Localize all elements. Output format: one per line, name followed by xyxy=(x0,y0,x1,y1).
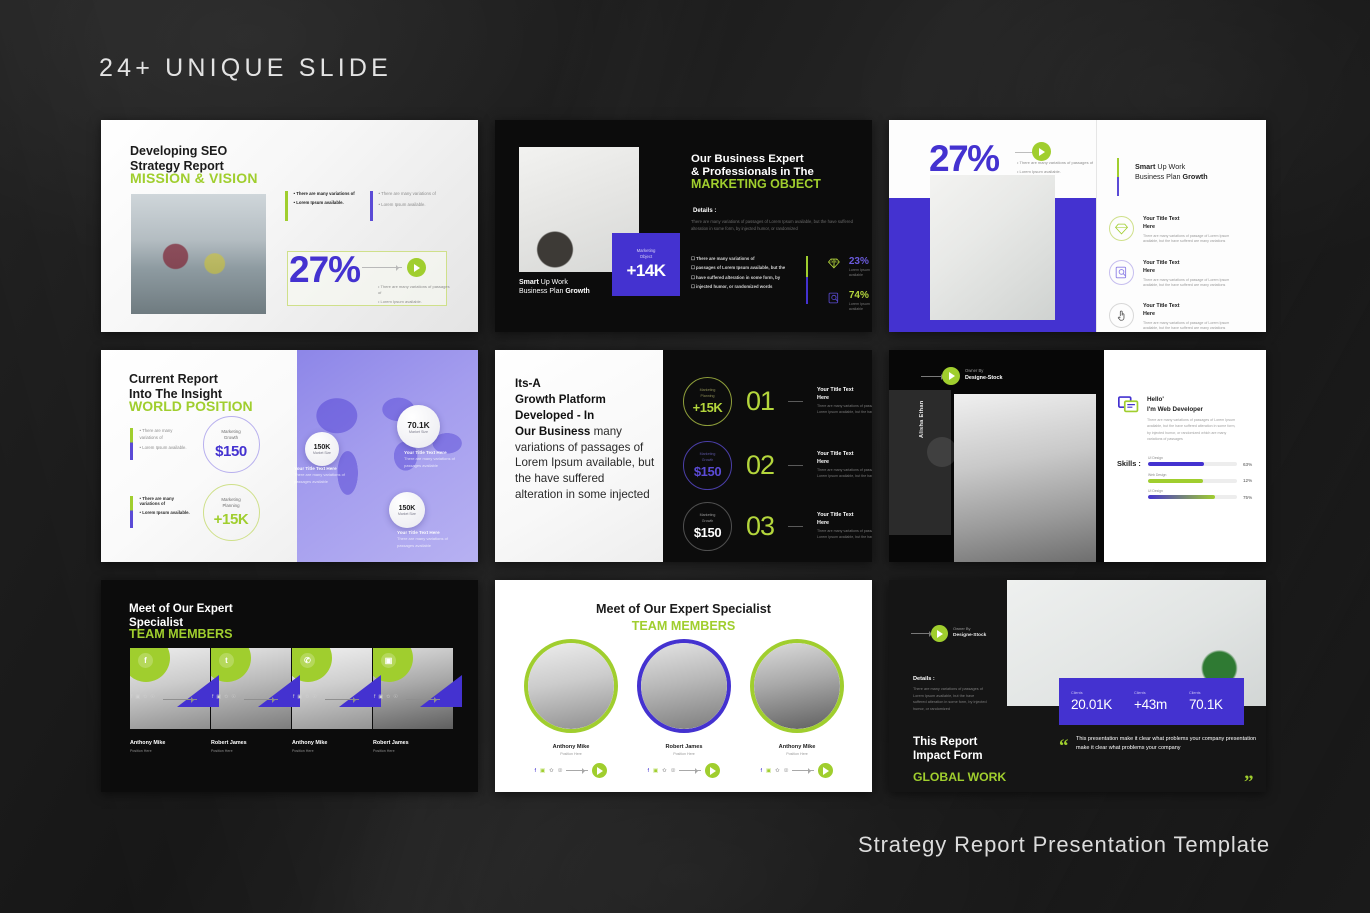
twitter-icon: ✩ xyxy=(549,768,554,774)
slide2-badge-value: +14K xyxy=(626,261,665,281)
stat-block: Clients +43m xyxy=(1134,691,1167,712)
slide4-title-line1: Current Report xyxy=(129,372,222,387)
slide2-title-line1: Our Business Expert xyxy=(691,153,814,166)
play-icon[interactable] xyxy=(818,763,833,778)
search-document-icon xyxy=(828,290,840,306)
quote-close-icon: ” xyxy=(1244,776,1254,789)
slide3-accent-bar xyxy=(1117,158,1119,196)
skill-row: UI Design 75% xyxy=(1148,489,1256,500)
stat-block: Clients 70.1K xyxy=(1189,691,1223,712)
slide-business-expert[interactable]: MarketingObject +14K Smart Up Work Busin… xyxy=(495,120,872,332)
slide3-photo xyxy=(930,175,1055,320)
slide6-owner: Owner ByDesigne-Stock xyxy=(965,368,1002,382)
quote-open-icon: “ xyxy=(1059,740,1069,753)
team-member[interactable]: Anthony Mike Position Here f ▣ ✩ ☉ xyxy=(521,639,621,778)
arrow-right-icon xyxy=(362,267,402,268)
slide4-circle-1: MarketingGrowth $150 xyxy=(203,416,260,473)
slide7-title: Meet of Our Expert Specialist xyxy=(129,602,233,629)
slide-team-members-light[interactable]: Meet of Our Expert Specialist TEAM MEMBE… xyxy=(495,580,872,792)
bullet-text: There are many variations of xyxy=(296,191,355,196)
member-name: Robert James xyxy=(211,740,291,746)
skill-value: 75% xyxy=(1243,495,1256,500)
slide1-title-line1: Developing SEO xyxy=(130,144,227,159)
twitter-icon: ✩ xyxy=(386,694,390,700)
slide9-title-line1: This Report xyxy=(913,735,983,749)
skill-fill xyxy=(1148,495,1215,499)
facebook-icon: f xyxy=(535,768,537,774)
slide3-smart-tagline: Smart Up Work Business Plan Growth xyxy=(1135,162,1208,182)
instagram-icon: ▣ xyxy=(216,694,221,700)
slide3-feature-3: Your Title TextHere There are many varia… xyxy=(1109,303,1235,332)
slide5-item-2: MarketingGrowth $150 02 Your Title TextH… xyxy=(683,441,872,490)
page-title: 24+ UNIQUE SLIDE xyxy=(99,54,392,83)
slide2-stat2-value: 74% xyxy=(849,290,872,301)
arrow-right-icon xyxy=(325,699,359,700)
slide2-badge-label: MarketingObject xyxy=(637,248,656,260)
item-title: Your Title TextHere xyxy=(817,512,872,528)
member-name: Anthony Mike xyxy=(130,740,210,746)
checklist-item: ☐ passages of Lorem Ipsum available, but… xyxy=(691,265,791,271)
slide2-stat-2: 74% Lorem Ipsum available xyxy=(828,290,872,313)
feature-title: Your Title TextHere xyxy=(1143,260,1235,276)
member-position: Position Here xyxy=(373,749,453,753)
whatsapp-icon: ☉ xyxy=(150,694,154,700)
slide7-title-line1: Meet of Our Expert xyxy=(129,602,233,616)
slide4-subtitle: WORLD POSITION xyxy=(129,398,253,414)
slide4-caption-1: Your Title Text HereThere are many varia… xyxy=(294,466,356,485)
circle-label: MarketingGrowth xyxy=(700,513,716,523)
twitter-icon: ✩ xyxy=(662,768,667,774)
slide4-caption-2: Your Title Text HereThere are many varia… xyxy=(404,450,466,469)
twitter-icon: ✩ xyxy=(224,694,228,700)
member-name: Anthony Mike xyxy=(521,744,621,750)
divider-dash xyxy=(788,401,803,402)
divider-dash xyxy=(788,465,803,466)
social-icon-row[interactable]: f▣✩☉ xyxy=(131,694,155,700)
skill-track xyxy=(1148,479,1237,483)
slide2-stat1-value: 23% xyxy=(849,256,872,267)
feature-title: Your Title TextHere xyxy=(1143,303,1235,319)
play-icon[interactable] xyxy=(407,258,426,277)
bubble-value: 70.1K xyxy=(407,420,429,430)
facebook-icon: f xyxy=(212,694,213,700)
skill-name: UI Design xyxy=(1148,456,1256,460)
circle-value: +15K xyxy=(214,511,249,528)
member-avatar xyxy=(524,639,618,733)
slide8-subtitle: TEAM MEMBERS xyxy=(495,619,872,634)
circle-label: MarketingPlanning xyxy=(221,497,240,509)
accent-bar xyxy=(130,428,133,460)
item-body: There are many variations of passages of… xyxy=(817,529,872,541)
slide4-caption-3: Your Title Text HereThere are many varia… xyxy=(397,530,459,549)
slide2-stat2-caption: Lorem Ipsum available xyxy=(849,302,872,313)
note-line: Lorem Ipsum available. xyxy=(1020,169,1061,174)
slide-row-2: Current Report Into The Insight WORLD PO… xyxy=(101,350,1266,562)
instagram-icon: ▣ xyxy=(135,694,140,700)
slide4-title: Current Report Into The Insight xyxy=(129,372,222,401)
slide3-divider xyxy=(1096,120,1097,332)
whatsapp-icon: ☉ xyxy=(231,694,235,700)
skill-value: 63% xyxy=(1243,462,1256,467)
member-avatar xyxy=(637,639,731,733)
member-avatar xyxy=(750,639,844,733)
slide2-divider-bar xyxy=(806,256,808,304)
slide2-title: Our Business Expert & Professionals in T… xyxy=(691,153,814,180)
slide5-paragraph: Its-A Growth Platform Developed - In Our… xyxy=(515,376,655,503)
feature-body: There are many variations of passage of … xyxy=(1143,278,1235,290)
team-member[interactable]: Anthony Mike Position Here f ▣ ✩ ☉ xyxy=(747,639,847,778)
whatsapp-icon: ☉ xyxy=(784,768,789,774)
member-position: Position Here xyxy=(747,752,847,756)
arrow-right-icon xyxy=(244,699,278,700)
diamond-icon xyxy=(828,256,840,271)
circle-value: $150 xyxy=(694,464,721,479)
slide1-subtitle: MISSION & VISION xyxy=(130,170,258,186)
twitter-icon: ✩ xyxy=(143,694,147,700)
circle-value: $150 xyxy=(694,525,721,540)
social-icon-row[interactable]: f ▣ ✩ ☉ xyxy=(634,763,734,778)
instagram-icon: ▣ xyxy=(653,768,658,774)
triangle-accent xyxy=(177,675,219,707)
member-position: Position Here xyxy=(292,749,372,753)
circle-label: MarketingPlanning xyxy=(700,388,716,398)
slide-team-members-dark[interactable]: Meet of Our Expert Specialist TEAM MEMBE… xyxy=(101,580,478,792)
skill-value: 12% xyxy=(1243,478,1256,483)
slide2-checklist: ☐ There are many variations of ☐ passage… xyxy=(691,256,791,294)
slide5-number-2: 02 xyxy=(746,450,774,481)
slide1-bullet-block-right: • There are many variations of • Lorem I… xyxy=(370,191,445,221)
member-name: Robert James xyxy=(373,740,453,746)
item-body: There are many variations of passages of… xyxy=(817,468,872,480)
whatsapp-icon: ☉ xyxy=(558,768,563,774)
slide9-stats-bar: Clients 20.01K Clients +43m Clients 70.1… xyxy=(1059,678,1244,725)
slide9-quote: This presentation make it clear what pro… xyxy=(1076,735,1257,753)
slide-developing-seo[interactable]: Developing SEO Strategy Report MISSION &… xyxy=(101,120,478,332)
facebook-icon: f xyxy=(131,694,132,700)
note-line: There are many variations of passages of xyxy=(378,284,450,295)
slide1-note: • There are many variations of passages … xyxy=(378,284,450,306)
slide6-vertical-name: Alisha Ethan xyxy=(919,401,925,438)
slide4-circle-2: MarketingPlanning +15K xyxy=(203,484,260,541)
slide1-bullets-right: • There are many variations of • Lorem I… xyxy=(379,191,445,221)
skill-name: UI Design xyxy=(1148,489,1256,493)
twitter-icon: ✩ xyxy=(775,768,780,774)
click-hand-icon xyxy=(1109,303,1134,328)
play-icon[interactable] xyxy=(931,625,948,642)
bubble-label: Market Size xyxy=(313,451,331,455)
slide5-item-1: MarketingPlanning +15K 01 Your Title Tex… xyxy=(683,377,872,426)
slide9-details-label: Details : xyxy=(913,676,935,682)
social-icon-row[interactable]: f ▣ ✩ ☉ xyxy=(747,763,847,778)
slide5-number-3: 03 xyxy=(746,511,774,542)
slide-row-3: Meet of Our Expert Specialist TEAM MEMBE… xyxy=(101,580,1266,792)
checklist-item: ☐ injected humor, or randomized words xyxy=(691,284,791,290)
circle-value: $150 xyxy=(215,443,247,460)
stat-value: 70.1K xyxy=(1189,697,1223,712)
slide6-badge-dot xyxy=(927,437,957,467)
slide4-bullets-2: • There are many variations of • Lorem I… xyxy=(140,496,192,515)
instagram-icon: ▣ xyxy=(540,768,545,774)
slide5-circle-2: MarketingGrowth $150 xyxy=(683,441,732,490)
triangle-accent xyxy=(420,675,462,707)
slide9-title-line2: Impact Form xyxy=(913,749,983,763)
note-line: Lorem Ipsum available. xyxy=(381,299,422,304)
slide6-skills-label: Skills : xyxy=(1117,459,1141,468)
slide1-title: Developing SEO Strategy Report xyxy=(130,144,227,173)
slide1-percent-value: 27% xyxy=(289,249,360,291)
diamond-icon xyxy=(1109,216,1134,241)
slide-world-position[interactable]: Current Report Into The Insight WORLD PO… xyxy=(101,350,478,562)
circle-label: MarketingGrowth xyxy=(700,452,716,462)
bubble-label: Market Size xyxy=(409,430,428,434)
skill-track xyxy=(1148,462,1237,466)
slide9-title: This Report Impact Form xyxy=(913,735,983,762)
circle-value: +15K xyxy=(693,400,723,415)
stat-value: 20.01K xyxy=(1071,697,1112,712)
bubble-value: 150K xyxy=(399,505,416,512)
slide5-item-3: MarketingGrowth $150 03 Your Title TextH… xyxy=(683,502,872,551)
footer-caption: Strategy Report Presentation Template xyxy=(858,832,1270,858)
play-icon[interactable] xyxy=(705,763,720,778)
slide9-details-body: There are many variations of passages of… xyxy=(913,686,988,713)
stat-label: Clients xyxy=(1071,691,1112,695)
skill-row: Web Design 12% xyxy=(1148,473,1256,484)
slide4-bubble-2: 70.1K Market Size xyxy=(397,405,440,448)
slide1-bullet-block-left: • There are many variations of • Lorem I… xyxy=(285,191,360,221)
feature-title: Your Title TextHere xyxy=(1143,216,1235,232)
feature-body: There are many variations of passage of … xyxy=(1143,321,1235,332)
slide-row-1: Developing SEO Strategy Report MISSION &… xyxy=(101,120,1266,332)
slide5-circle-3: MarketingGrowth $150 xyxy=(683,502,732,551)
bullet-text: Lorem Ipsum available. xyxy=(296,200,344,205)
divider-dash xyxy=(788,526,803,527)
arrow-right-icon xyxy=(566,770,588,771)
twitter-icon: ✩ xyxy=(305,694,309,700)
bubble-label: Market Size xyxy=(398,512,416,516)
checklist-item: ☐ There are many variations of xyxy=(691,256,791,262)
stat-block: Clients 20.01K xyxy=(1071,691,1112,712)
slide2-stat-1: 23% Lorem Ipsum available xyxy=(828,256,872,279)
slide2-details-label: Details : xyxy=(693,208,716,214)
instagram-icon: ▣ xyxy=(297,694,302,700)
slide4-bubble-3: 150K Market Size xyxy=(389,492,425,528)
stat-value: +43m xyxy=(1134,697,1167,712)
member-position: Position Here xyxy=(130,749,210,753)
social-icon-row[interactable]: f▣✩☉ xyxy=(293,694,317,700)
facebook-icon[interactable]: f xyxy=(138,653,153,668)
instagram-icon: ▣ xyxy=(378,694,383,700)
slide2-subtitle: MARKETING OBJECT xyxy=(691,177,821,192)
instagram-icon[interactable]: ▣ xyxy=(381,653,396,668)
member-name: Anthony Mike xyxy=(292,740,372,746)
slide5-circle-1: MarketingPlanning +15K xyxy=(683,377,732,426)
slide5-number-1: 01 xyxy=(746,386,774,417)
checklist-item: ☐ have suffered alteration in some form,… xyxy=(691,275,791,281)
slide6-skills-list: UI Design 63% Web Design 12% UI Design xyxy=(1148,456,1256,506)
slide3-note: • There are many variations of passages … xyxy=(1017,160,1095,175)
slide-grid: Developing SEO Strategy Report MISSION &… xyxy=(101,120,1266,810)
slide6-body: There are many variations of passages of… xyxy=(1147,417,1240,442)
item-body: There are many variations of passages of… xyxy=(817,404,872,416)
facebook-icon: f xyxy=(761,768,763,774)
skill-row: UI Design 63% xyxy=(1148,456,1256,467)
slide9-subtitle: GLOBAL WORK xyxy=(913,770,1006,784)
arrow-right-icon xyxy=(679,770,701,771)
accent-bar xyxy=(130,496,133,528)
slide8-title: Meet of Our Expert Specialist xyxy=(495,602,872,617)
item-title: Your Title TextHere xyxy=(817,451,872,467)
feature-body: There are many variations of passage of … xyxy=(1143,234,1235,246)
arrow-right-icon xyxy=(163,699,197,700)
skill-fill xyxy=(1148,462,1204,466)
member-position: Position Here xyxy=(634,752,734,756)
social-icon-row[interactable]: f▣✩☉ xyxy=(374,694,398,700)
accent-bar-green xyxy=(285,191,288,221)
member-name: Robert James xyxy=(634,744,734,750)
slide6-photo xyxy=(954,394,1096,562)
triangle-accent xyxy=(258,675,300,707)
member-position: Position Here xyxy=(521,752,621,756)
slide4-group-2: • There are many variations of • Lorem I… xyxy=(130,496,260,541)
team-member[interactable]: Robert James Position Here f ▣ ✩ ☉ xyxy=(634,639,734,778)
twitter-icon[interactable]: t xyxy=(219,653,234,668)
slide6-heading: Hello'I'm Web Developer xyxy=(1147,395,1203,415)
stat-label: Clients xyxy=(1189,691,1223,695)
slide4-group-1: • There are many variations of • Lorem I… xyxy=(130,428,260,473)
slide3-percent-value: 27% xyxy=(929,138,999,180)
slide-growth-platform[interactable]: Its-A Growth Platform Developed - In Our… xyxy=(495,350,872,562)
slide3-feature-1: Your Title TextHere There are many varia… xyxy=(1109,216,1235,245)
slide4-bubble-1: 150K Market Size xyxy=(305,432,339,466)
skill-name: Web Design xyxy=(1148,473,1256,477)
play-icon[interactable] xyxy=(942,367,960,385)
note-line: There are many variations of passages of xyxy=(1019,160,1093,165)
chat-bubble-icon xyxy=(1118,396,1140,415)
slide1-bullets-left: • There are many variations of • Lorem I… xyxy=(294,191,360,221)
slide2-details-body: There are many variations of passages of… xyxy=(691,219,861,232)
facebook-icon: f xyxy=(648,768,650,774)
arrow-right-icon xyxy=(406,699,440,700)
item-title: Your Title TextHere xyxy=(817,387,872,403)
bullet-text: Lorem Ipsum available. xyxy=(381,202,425,207)
slide3-feature-2: Your Title TextHere There are many varia… xyxy=(1109,260,1235,289)
bubble-value: 150K xyxy=(314,444,331,451)
slide4-bullets-1: • There are many variations of • Lorem I… xyxy=(140,428,192,452)
facebook-icon: f xyxy=(293,694,294,700)
slide-web-developer[interactable]: Owner ByDesigne-Stock Alisha Ethan Hello… xyxy=(889,350,1266,562)
facebook-icon: f xyxy=(374,694,375,700)
instagram-icon: ▣ xyxy=(766,768,771,774)
slide7-subtitle: TEAM MEMBERS xyxy=(129,627,233,642)
search-document-icon xyxy=(1109,260,1134,285)
whatsapp-icon[interactable]: ✆ xyxy=(300,653,315,668)
slide-smart-up-work[interactable]: 27% • There are many variations of passa… xyxy=(889,120,1266,332)
slide1-photo xyxy=(131,194,266,314)
whatsapp-icon: ☉ xyxy=(393,694,397,700)
stat-label: Clients xyxy=(1134,691,1167,695)
slide2-badge: MarketingObject +14K xyxy=(612,233,680,296)
arrow-right-icon xyxy=(792,770,814,771)
slide2-smart-tagline: Smart Up Work Business Plan Growth xyxy=(519,278,590,297)
member-name: Anthony Mike xyxy=(747,744,847,750)
skill-fill xyxy=(1148,479,1203,483)
skill-track xyxy=(1148,495,1237,499)
accent-bar-purple xyxy=(370,191,373,221)
triangle-accent xyxy=(339,675,381,707)
member-position: Position Here xyxy=(211,749,291,753)
whatsapp-icon: ☉ xyxy=(671,768,676,774)
social-icon-row[interactable]: f▣✩☉ xyxy=(212,694,236,700)
social-icon-row[interactable]: f ▣ ✩ ☉ xyxy=(521,763,621,778)
bullet-text: There are many variations of xyxy=(381,191,436,196)
slide9-owner: Owner ByDesigne-Stock xyxy=(953,626,986,640)
slide-impact-form[interactable]: Owner ByDesigne-Stock Details : There ar… xyxy=(889,580,1266,792)
whatsapp-icon: ☉ xyxy=(312,694,316,700)
play-icon[interactable] xyxy=(592,763,607,778)
circle-label: MarketingGrowth xyxy=(221,429,240,441)
play-icon[interactable] xyxy=(1032,142,1051,161)
slide2-stat1-caption: Lorem Ipsum available xyxy=(849,268,872,279)
